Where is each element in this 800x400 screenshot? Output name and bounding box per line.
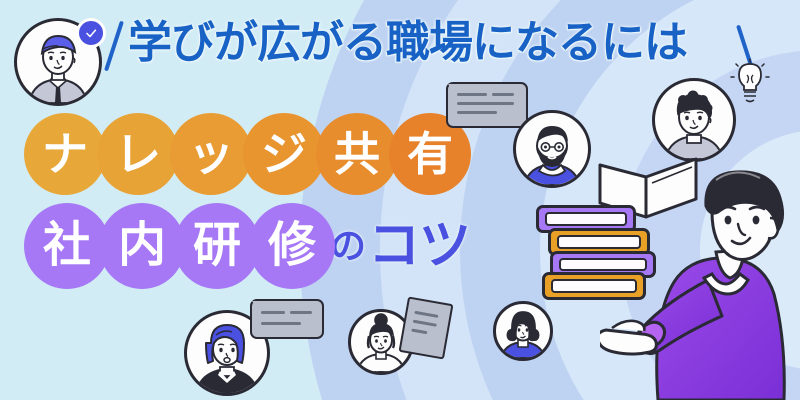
keyword-bubble: 修 — [249, 203, 335, 289]
slash-mark-left-icon — [104, 21, 124, 72]
speech-line — [457, 102, 514, 105]
bearded-speaker-illustration — [516, 113, 588, 185]
light-bulb-icon — [728, 58, 772, 108]
document-icon — [398, 296, 453, 359]
keyword-bubble: レ — [97, 113, 179, 195]
banner-root: 学びが広がる職場になるには ナ レ ッ ジ 共 有 社 内 研 — [0, 0, 800, 400]
keyword-row-purple: 社 内 研 修 の コツ — [24, 203, 470, 289]
avatar-bearded-speaker — [513, 110, 591, 188]
title-row: 学びが広がる職場になるには — [100, 14, 760, 74]
check-mark-icon — [84, 26, 98, 40]
keyword-bubble-char: 有 — [407, 131, 453, 177]
light-bulb-glyph — [728, 58, 772, 108]
keyword-tail: コツ — [368, 220, 470, 272]
page-title: 学びが広がる職場になるには — [128, 14, 687, 72]
keyword-bubble-char: ジ — [261, 131, 307, 177]
hero-illustration — [600, 148, 800, 400]
keyword-bubble-char: 研 — [193, 222, 241, 270]
keyword-bubble: 研 — [174, 203, 260, 289]
keyword-row-orange: ナ レ ッ ジ 共 有 — [24, 113, 462, 195]
keyword-connector: の — [330, 228, 366, 264]
keyword-bubble-char: 修 — [268, 222, 316, 270]
speech-line — [457, 93, 487, 96]
keyword-bubble-char: 共 — [334, 131, 380, 177]
avatar-blue-top-woman — [493, 301, 553, 361]
keyword-bubble-char: 社 — [43, 222, 91, 270]
keyword-bubble: 内 — [99, 203, 185, 289]
keyword-bubble: ナ — [24, 113, 106, 195]
keyword-bubble: ッ — [170, 113, 252, 195]
speech-line — [261, 322, 301, 325]
keyword-bubble: ジ — [243, 113, 325, 195]
speech-line — [457, 111, 497, 114]
keyword-bubble-char: レ — [115, 131, 161, 177]
speech-bubble-blue-bob — [250, 299, 324, 339]
keyword-bubble-char: ッ — [188, 131, 234, 177]
speech-line — [290, 311, 312, 314]
document-line — [413, 320, 437, 327]
speech-line — [492, 93, 514, 96]
keyword-bubble-char: 内 — [118, 222, 166, 270]
document-line — [414, 311, 438, 318]
keyword-bubble-char: ナ — [42, 131, 88, 177]
hero-man-holding-books — [600, 148, 800, 400]
keyword-bubble: 共 — [316, 113, 398, 195]
speech-line — [261, 311, 285, 314]
document-line — [411, 329, 427, 335]
keyword-bubble: 社 — [24, 203, 110, 289]
blue-top-woman-illustration — [496, 304, 550, 358]
